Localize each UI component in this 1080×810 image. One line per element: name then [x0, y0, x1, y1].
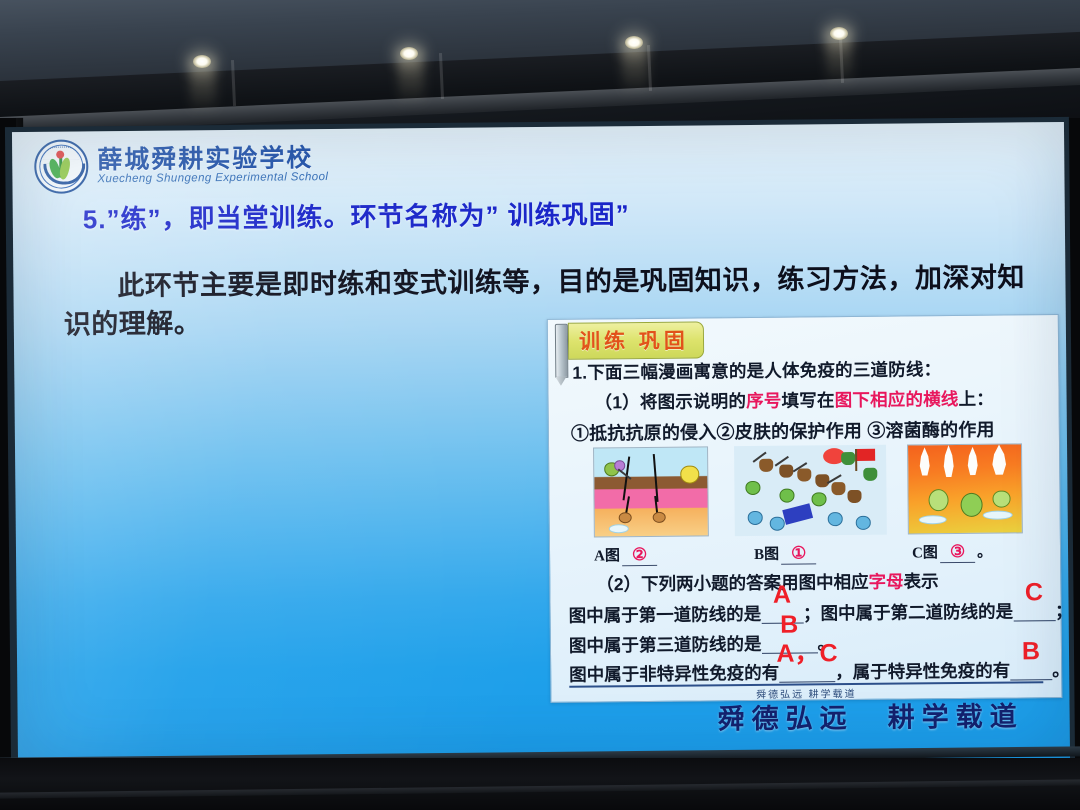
screen-vignette: [12, 122, 1070, 768]
ceiling-light-icon: [193, 55, 211, 68]
ceiling: [0, 0, 1080, 130]
ceiling-light-icon: [625, 36, 643, 49]
ceiling-light-icon: [830, 27, 848, 40]
projection-screen: 薛城舜耕实验学校 Xuecheng Shungeng Experimental …: [12, 122, 1070, 768]
ceiling-light-icon: [400, 47, 418, 60]
classroom-photo: 薛城舜耕实验学校 Xuecheng Shungeng Experimental …: [0, 0, 1080, 810]
